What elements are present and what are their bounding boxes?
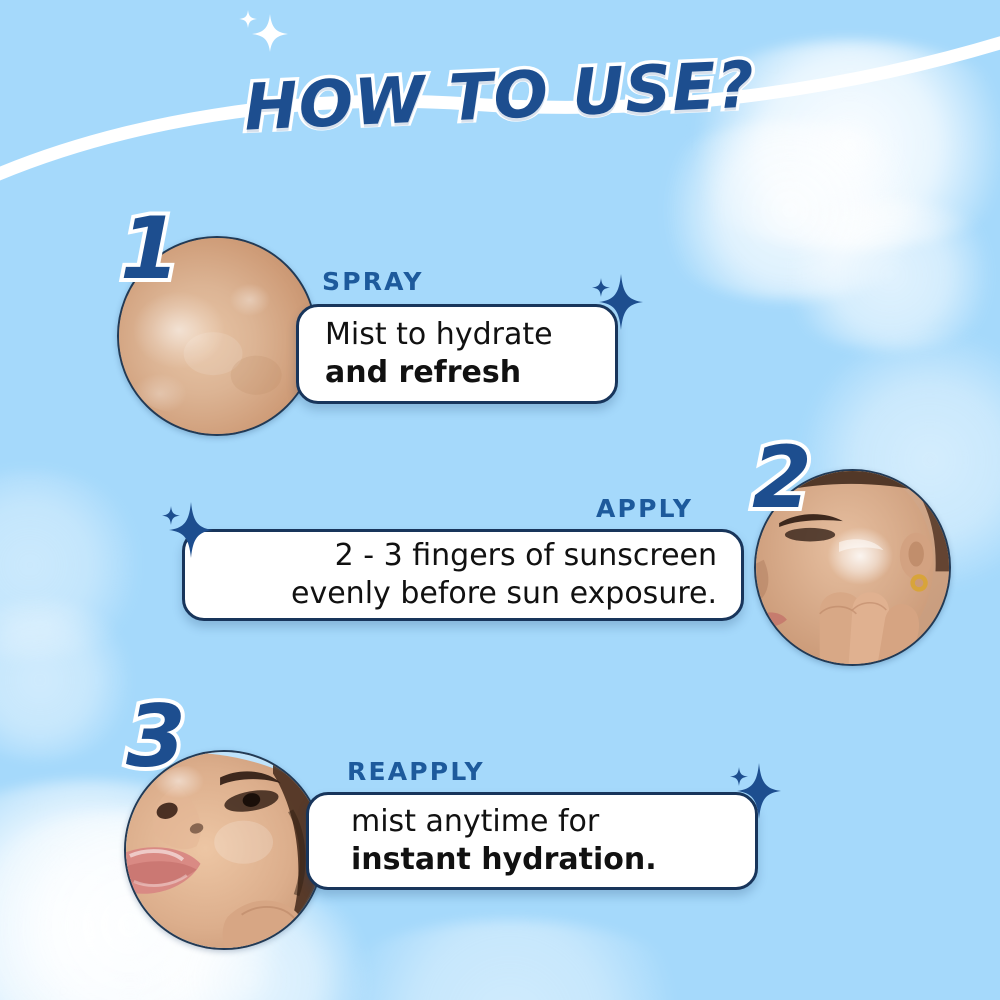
step-2-line-2: evenly before sun exposure. bbox=[291, 575, 717, 613]
sparkle-icon bbox=[228, 6, 290, 72]
step-1-card: Mist to hydrate and refresh bbox=[296, 304, 618, 404]
step-3-line-2: instant hydration. bbox=[351, 841, 755, 879]
cloud-shape bbox=[660, 40, 1000, 250]
step-3-line-1: mist anytime for bbox=[351, 803, 755, 841]
step-2-line-2-prefix: evenly bbox=[291, 576, 400, 611]
cloud-shape bbox=[770, 200, 1000, 350]
step-2-line-2-bold: before sun exposure. bbox=[400, 576, 717, 611]
infographic-canvas: HOW TO USE? bbox=[0, 0, 1000, 1000]
page-title: HOW TO USE? bbox=[243, 48, 757, 145]
step-2-line-1: 2 - 3 fingers of sunscreen bbox=[335, 537, 717, 575]
cloud-shape bbox=[300, 920, 720, 1000]
step-2-label: APPLY bbox=[596, 494, 693, 523]
step-2-card: 2 - 3 fingers of sunscreen evenly before… bbox=[182, 529, 744, 621]
cloud-shape bbox=[0, 600, 140, 760]
step-1-label: SPRAY bbox=[322, 267, 424, 296]
step-3-card: mist anytime for instant hydration. bbox=[306, 792, 758, 890]
step-1-number: 1 bbox=[120, 206, 180, 292]
step-1-line-2: and refresh bbox=[325, 354, 615, 392]
step-1-line-1: Mist to hydrate bbox=[325, 316, 615, 354]
step-3-label: REAPPLY bbox=[347, 757, 485, 786]
cloud-shape bbox=[0, 470, 150, 660]
step-2-number: 2 bbox=[752, 435, 812, 521]
cloud-shape bbox=[640, 120, 940, 300]
step-3-number: 3 bbox=[126, 694, 186, 780]
title-block: HOW TO USE? bbox=[0, 60, 1000, 134]
